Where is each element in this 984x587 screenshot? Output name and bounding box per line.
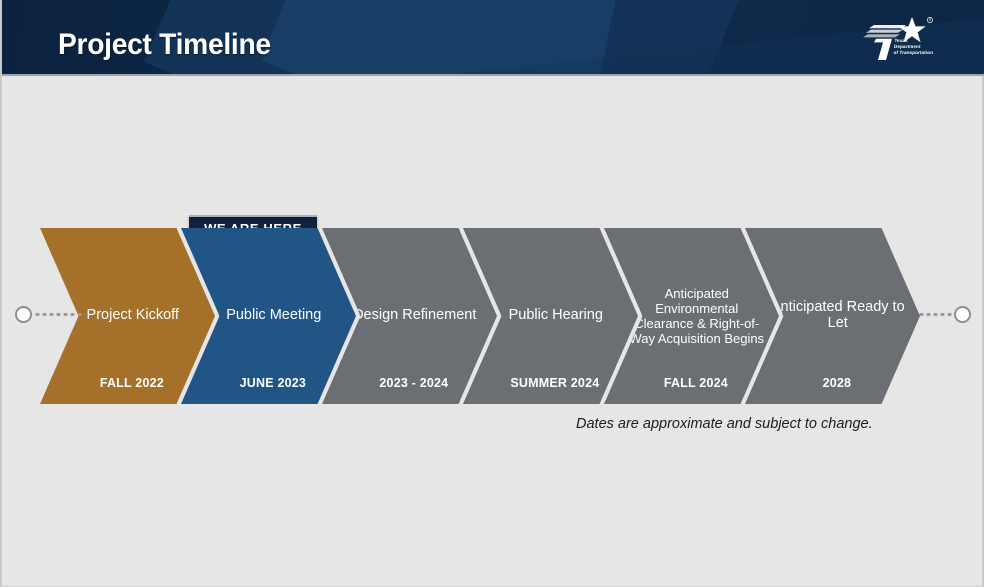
project-timeline: Project KickoffFALL 2022Public MeetingJU… bbox=[2, 228, 984, 404]
svg-text:R: R bbox=[929, 18, 932, 22]
timeline-end-dots bbox=[918, 313, 954, 316]
timeline-step-1: Project KickoffFALL 2022 bbox=[40, 228, 215, 404]
timeline-step-label: Anticipated Environmental Clearance & Ri… bbox=[629, 286, 766, 346]
timeline-step-date: 2028 bbox=[754, 376, 920, 390]
timeline-step-label: Public Hearing bbox=[488, 308, 625, 324]
logo-t-stem bbox=[874, 39, 892, 60]
timeline-step-label: Project Kickoff bbox=[65, 308, 202, 324]
slide-canvas: Project Timeline R Texas Department bbox=[0, 0, 984, 587]
timeline-step-label: Design Refinement bbox=[347, 308, 484, 324]
logo-agency-name: Texas Department of Transportation bbox=[893, 38, 934, 56]
timeline-footnote: Dates are approximate and subject to cha… bbox=[576, 416, 873, 432]
txdot-logo: R Texas Department of Transportation bbox=[860, 16, 938, 64]
slide-header: Project Timeline R Texas Department bbox=[2, 0, 984, 76]
timeline-start-dots bbox=[34, 313, 82, 316]
timeline-end-endpoint bbox=[954, 306, 971, 323]
timeline-step-label: Public Meeting bbox=[206, 308, 343, 324]
logo-agency-line-3: of Transportation bbox=[893, 50, 933, 56]
timeline-start-endpoint bbox=[15, 306, 32, 323]
page-title: Project Timeline bbox=[58, 28, 271, 62]
logo-bars bbox=[863, 25, 906, 37]
timeline-step-label: Anticipated Ready to Let bbox=[770, 300, 907, 331]
